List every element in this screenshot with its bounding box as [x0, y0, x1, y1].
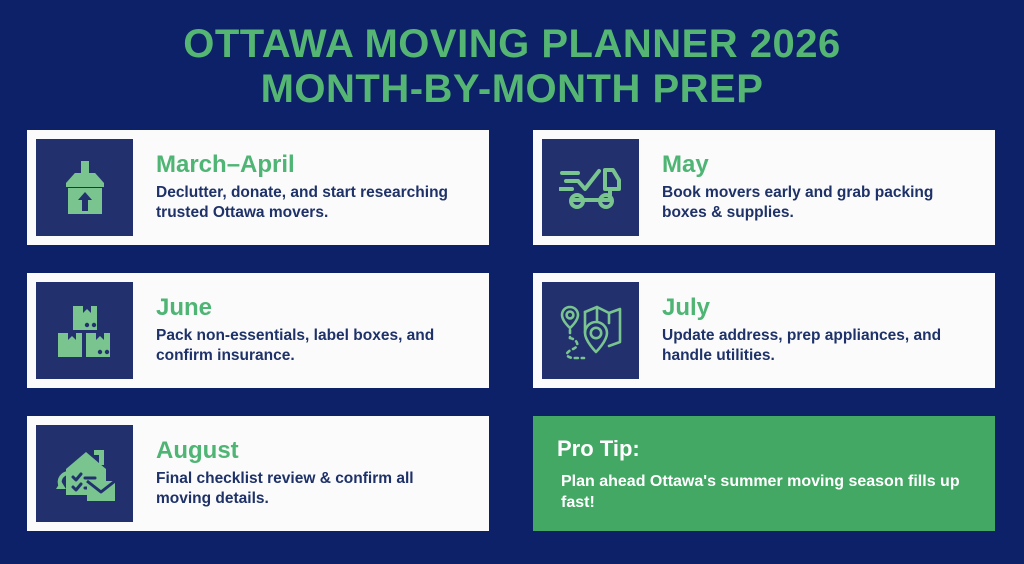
title-line-2: Month-by-Month Prep: [0, 67, 1024, 112]
donation-box-icon: [36, 139, 133, 236]
pro-tip-panel: Pro Tip: Plan ahead Ottawa's summer movi…: [533, 416, 995, 531]
card-june: June Pack non-essentials, label boxes, a…: [27, 273, 489, 388]
card-july: July Update address, prep appliances, an…: [533, 273, 995, 388]
card-description: Final checklist review & confirm all mov…: [156, 469, 470, 509]
card-text-august: August Final checklist review & confirm …: [133, 438, 480, 509]
card-title: July: [662, 295, 976, 321]
card-title: June: [156, 295, 470, 321]
moving-truck-check-icon: [542, 139, 639, 236]
poster-header: Ottawa Moving Planner 2026 Month-by-Mont…: [0, 0, 1024, 112]
pro-tip-title: Pro Tip:: [557, 437, 971, 461]
card-text-may: May Book movers early and grab packing b…: [639, 152, 986, 223]
card-text-march-april: March–April Declutter, donate, and start…: [133, 152, 480, 223]
card-description: Book movers early and grab packing boxes…: [662, 183, 976, 223]
card-march-april: March–April Declutter, donate, and start…: [27, 130, 489, 245]
card-description: Declutter, donate, and start researching…: [156, 183, 470, 223]
house-checklist-envelope-icon: [36, 425, 133, 522]
card-text-june: June Pack non-essentials, label boxes, a…: [133, 295, 480, 366]
card-title: May: [662, 152, 976, 178]
infographic-poster: Ottawa Moving Planner 2026 Month-by-Mont…: [0, 0, 1024, 564]
card-description: Update address, prep appliances, and han…: [662, 326, 976, 366]
page-title: Ottawa Moving Planner 2026 Month-by-Mont…: [0, 22, 1024, 112]
card-may: May Book movers early and grab packing b…: [533, 130, 995, 245]
stacked-boxes-icon: [36, 282, 133, 379]
card-text-july: July Update address, prep appliances, an…: [639, 295, 986, 366]
map-route-pins-icon: [542, 282, 639, 379]
card-title: March–April: [156, 152, 470, 178]
card-august: August Final checklist review & confirm …: [27, 416, 489, 531]
cards-grid: March–April Declutter, donate, and start…: [27, 130, 997, 531]
card-title: August: [156, 438, 470, 464]
title-line-1: Ottawa Moving Planner 2026: [183, 22, 841, 66]
card-description: Pack non-essentials, label boxes, and co…: [156, 326, 470, 366]
pro-tip-body: Plan ahead Ottawa's summer moving season…: [557, 472, 971, 514]
